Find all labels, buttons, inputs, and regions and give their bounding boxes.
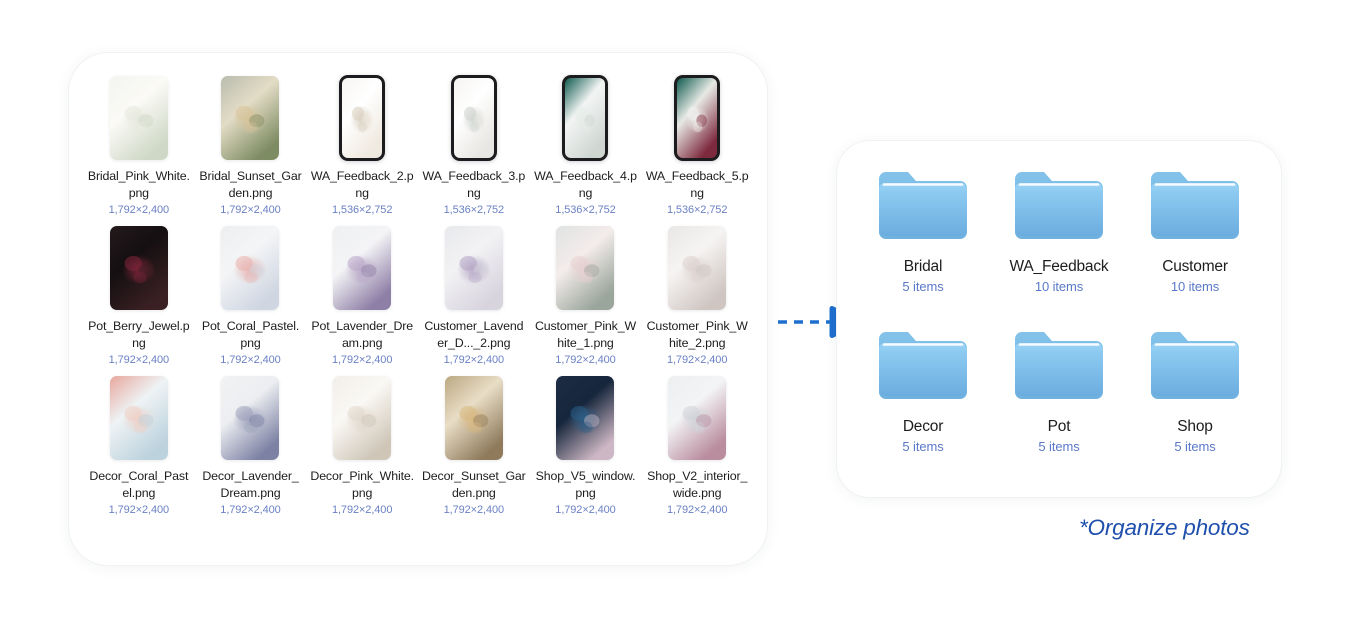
photo-dimensions: 1,792×2,400	[444, 503, 504, 518]
image-thumbnail	[221, 76, 279, 160]
thumbnail-art-pink-white-interior	[333, 376, 391, 460]
photo-item[interactable]: Bridal_Sunset_Garden.png1,792×2,400	[195, 75, 307, 218]
photo-filename: WA_Feedback_2.png	[310, 168, 414, 202]
photo-thumbnail[interactable]	[87, 225, 191, 311]
folder-name: WA_Feedback	[1010, 257, 1109, 277]
photo-item[interactable]: Pot_Berry_Jewel.png1,792×2,400	[83, 225, 195, 368]
photo-filename: Decor_Lavender_Dream.png	[199, 468, 303, 502]
photo-item[interactable]: Shop_V5_window.png1,792×2,400	[530, 375, 642, 518]
folder-front	[879, 183, 967, 236]
photo-filename: WA_Feedback_4.png	[534, 168, 638, 202]
photo-dimensions: 1,536×2,752	[555, 203, 615, 218]
photo-thumbnail[interactable]	[534, 75, 638, 161]
photo-thumbnail[interactable]	[422, 75, 526, 161]
photo-filename: Customer_Pink_White_1.png	[534, 318, 638, 352]
thumbnail-art-lavender-vase	[333, 226, 391, 310]
photo-dimensions: 1,792×2,400	[555, 503, 615, 518]
phone-mockup-thumbnail	[674, 75, 720, 161]
photo-item[interactable]: Decor_Sunset_Garden.png1,792×2,400	[418, 375, 530, 518]
folder-item-count: 10 items	[1035, 278, 1083, 296]
folder-item-customer[interactable]: Customer10 items	[1127, 167, 1263, 311]
thumbnail-art-customer-pink-white-2	[668, 226, 726, 310]
photo-dimensions: 1,792×2,400	[109, 203, 169, 218]
photo-thumbnail[interactable]	[199, 75, 303, 161]
image-thumbnail	[110, 226, 168, 310]
image-thumbnail	[333, 226, 391, 310]
diagram-canvas: Bridal_Pink_White.png1,792×2,400 Bridal_…	[0, 0, 1359, 622]
photo-thumbnail[interactable]	[199, 375, 303, 461]
image-thumbnail	[668, 226, 726, 310]
photo-thumbnail[interactable]	[310, 75, 414, 161]
photo-filename: Decor_Sunset_Garden.png	[422, 468, 526, 502]
folder-icon	[1011, 167, 1107, 247]
folder-grid: Bridal5 items WA_Feedback10 items	[855, 167, 1263, 471]
photo-dimensions: 1,792×2,400	[220, 503, 280, 518]
phone-mockup-thumbnail	[562, 75, 608, 161]
phone-screen	[565, 78, 605, 158]
image-thumbnail	[445, 226, 503, 310]
photo-item[interactable]: Pot_Coral_Pastel.png1,792×2,400	[195, 225, 307, 368]
folder-name: Decor	[903, 417, 943, 437]
thumbnail-art-chat-screenshot-light2	[454, 78, 494, 158]
folder-icon	[1147, 327, 1243, 407]
photo-thumbnail[interactable]	[310, 225, 414, 311]
photo-filename: Pot_Berry_Jewel.png	[87, 318, 191, 352]
photo-thumbnail[interactable]	[645, 225, 749, 311]
folder-name: Pot	[1048, 417, 1071, 437]
folder-name: Shop	[1177, 417, 1212, 437]
image-thumbnail	[445, 376, 503, 460]
folder-item-count: 5 items	[1038, 438, 1079, 456]
photo-dimensions: 1,792×2,400	[109, 503, 169, 518]
thumbnail-art-coral-flower-wall	[110, 376, 168, 460]
photo-item[interactable]: Decor_Coral_Pastel.png1,792×2,400	[83, 375, 195, 518]
folder-item-count: 5 items	[1174, 438, 1215, 456]
photo-filename: WA_Feedback_3.png	[422, 168, 526, 202]
photo-thumbnail[interactable]	[422, 225, 526, 311]
thumbnail-art-bridal-white-arch	[110, 76, 168, 160]
photo-dimensions: 1,536×2,752	[332, 203, 392, 218]
photo-filename: Pot_Coral_Pastel.png	[199, 318, 303, 352]
folder-icon	[875, 327, 971, 407]
image-thumbnail	[221, 376, 279, 460]
photo-filename: Bridal_Pink_White.png	[87, 168, 191, 202]
folder-item-count: 5 items	[902, 438, 943, 456]
folder-item-pot[interactable]: Pot5 items	[991, 327, 1127, 471]
folder-front	[1015, 343, 1103, 396]
folder-front	[1151, 183, 1239, 236]
folder-item-decor[interactable]: Decor5 items	[855, 327, 991, 471]
photo-item[interactable]: Customer_Pink_White_2.png1,792×2,400	[641, 225, 753, 368]
thumbnail-art-chat-screenshot-keyboard	[565, 78, 605, 158]
thumbnail-art-shop-interior-wide	[668, 376, 726, 460]
photo-dimensions: 1,792×2,400	[444, 353, 504, 368]
photo-filename: Pot_Lavender_Dream.png	[310, 318, 414, 352]
photo-thumbnail[interactable]	[310, 375, 414, 461]
photo-item[interactable]: Bridal_Pink_White.png1,792×2,400	[83, 75, 195, 218]
image-thumbnail	[110, 76, 168, 160]
photo-item[interactable]: Pot_Lavender_Dream.png1,792×2,400	[306, 225, 418, 368]
organized-folders-panel: Bridal5 items WA_Feedback10 items	[836, 140, 1282, 498]
image-thumbnail	[110, 376, 168, 460]
photo-item[interactable]: Decor_Pink_White.png1,792×2,400	[306, 375, 418, 518]
photo-dimensions: 1,792×2,400	[332, 503, 392, 518]
photo-filename: Shop_V2_interior_wide.png	[645, 468, 749, 502]
image-thumbnail	[668, 376, 726, 460]
photo-thumbnail[interactable]	[645, 75, 749, 161]
thumbnail-art-bridal-sunset-garden	[221, 76, 279, 160]
thumbnail-art-berry-vase-dark	[110, 226, 168, 310]
photo-dimensions: 1,792×2,400	[667, 503, 727, 518]
phone-screen	[454, 78, 494, 158]
photo-item[interactable]: WA_Feedback_4.png1,536×2,752	[530, 75, 642, 218]
thumbnail-art-customer-pink-white-1	[556, 226, 614, 310]
photo-dimensions: 1,792×2,400	[667, 353, 727, 368]
folder-item-wa-feedback[interactable]: WA_Feedback10 items	[991, 167, 1127, 311]
photo-thumbnail[interactable]	[534, 375, 638, 461]
photo-filename: Customer_Pink_White_2.png	[645, 318, 749, 352]
photo-thumbnail[interactable]	[199, 225, 303, 311]
photo-dimensions: 1,536×2,752	[444, 203, 504, 218]
folder-name: Bridal	[904, 257, 942, 277]
thumbnail-art-coral-pastel-vase	[221, 226, 279, 310]
image-thumbnail	[556, 376, 614, 460]
image-thumbnail	[556, 226, 614, 310]
phone-mockup-thumbnail	[451, 75, 497, 161]
photo-thumbnail[interactable]	[87, 75, 191, 161]
folder-icon	[1147, 167, 1243, 247]
photo-filename: Decor_Coral_Pastel.png	[87, 468, 191, 502]
source-photos-panel: Bridal_Pink_White.png1,792×2,400 Bridal_…	[68, 52, 768, 566]
folder-icon	[875, 167, 971, 247]
photo-dimensions: 1,792×2,400	[220, 203, 280, 218]
photo-filename: Decor_Pink_White.png	[310, 468, 414, 502]
photo-thumbnail[interactable]	[87, 375, 191, 461]
folder-name: Customer	[1162, 257, 1228, 277]
photo-filename: Shop_V5_window.png	[534, 468, 638, 502]
folder-item-shop[interactable]: Shop5 items	[1127, 327, 1263, 471]
caption-organize-photos: *Organize photos	[1079, 513, 1250, 543]
thumbnail-art-lavender-arch	[221, 376, 279, 460]
image-thumbnail	[333, 376, 391, 460]
photo-filename: Customer_Lavender_D..._2.png	[422, 318, 526, 352]
folder-front	[1015, 183, 1103, 236]
photo-item[interactable]: Customer_Pink_White_1.png1,792×2,400	[530, 225, 642, 368]
folder-front	[1151, 343, 1239, 396]
folder-item-count: 10 items	[1171, 278, 1219, 296]
phone-screen	[677, 78, 717, 158]
photo-thumbnail[interactable]	[645, 375, 749, 461]
folder-icon	[1011, 327, 1107, 407]
photo-filename: Bridal_Sunset_Garden.png	[199, 168, 303, 202]
photo-dimensions: 1,792×2,400	[332, 353, 392, 368]
thumbnail-art-chat-screenshot-berry	[677, 78, 717, 158]
thumbnail-art-chat-screenshot-light	[342, 78, 382, 158]
thumbnail-art-shop-window-night	[556, 376, 614, 460]
photo-dimensions: 1,792×2,400	[220, 353, 280, 368]
photo-item[interactable]: WA_Feedback_3.png1,536×2,752	[418, 75, 530, 218]
thumbnail-art-customer-lavender	[445, 226, 503, 310]
photo-item[interactable]: WA_Feedback_2.png1,536×2,752	[306, 75, 418, 218]
photo-item[interactable]: Decor_Lavender_Dream.png1,792×2,400	[195, 375, 307, 518]
image-thumbnail	[221, 226, 279, 310]
phone-screen	[342, 78, 382, 158]
photo-thumbnail[interactable]	[534, 225, 638, 311]
photo-filename: WA_Feedback_5.png	[645, 168, 749, 202]
folder-item-count: 5 items	[902, 278, 943, 296]
thumbnail-art-sunset-table-decor	[445, 376, 503, 460]
photo-grid: Bridal_Pink_White.png1,792×2,400 Bridal_…	[83, 75, 753, 518]
photo-dimensions: 1,536×2,752	[667, 203, 727, 218]
photo-item[interactable]: Customer_Lavender_D..._2.png1,792×2,400	[418, 225, 530, 368]
photo-item[interactable]: WA_Feedback_5.png1,536×2,752	[641, 75, 753, 218]
photo-dimensions: 1,792×2,400	[109, 353, 169, 368]
folder-item-bridal[interactable]: Bridal5 items	[855, 167, 991, 311]
folder-front	[879, 343, 967, 396]
photo-thumbnail[interactable]	[422, 375, 526, 461]
phone-mockup-thumbnail	[339, 75, 385, 161]
photo-dimensions: 1,792×2,400	[555, 353, 615, 368]
photo-item[interactable]: Shop_V2_interior_wide.png1,792×2,400	[641, 375, 753, 518]
